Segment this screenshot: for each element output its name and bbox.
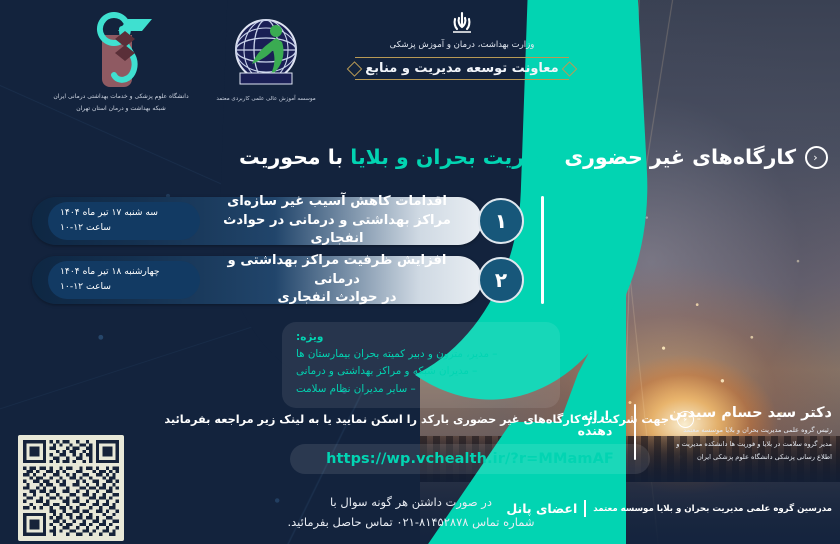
session-title-line2: مراکز بهداشتی و درمانی در حوادث انفجاری: [204, 212, 470, 249]
panel-divider: [584, 500, 586, 517]
header-logos: دانشگاه علوم پزشکی و خدمات بهداشتی درمان…: [0, 0, 840, 128]
motamed-logo-mark: [196, 14, 336, 92]
session-date-pill: سه شنبه ۱۷ تیر ماه ۱۴۰۴ ساعت ۱۲-۱۰: [48, 202, 200, 240]
motamed-logo: موسسه آموزش عالی علمی کاربردی معتمد: [196, 14, 336, 104]
session-row: ۱ اقدامات کاهش آسیب غیر سازه‌ای مراکز به…: [32, 197, 522, 245]
audience-box: ویژه: – مدیر، مترون و دبیر کمیته بحران ب…: [282, 322, 560, 408]
iums-logo-caption-2: شبکه بهداشت و درمان استان تهران: [46, 104, 196, 114]
title-suffix: با محوریت: [239, 145, 343, 169]
presenter-credential-3: اطلاع رسانی پزشکی دانشگاه علوم پزشکی ایر…: [644, 452, 832, 463]
poster-root: دانشگاه علوم پزشکی و خدمات بهداشتی درمان…: [0, 0, 840, 544]
session-title-line1: افزایش ظرفیت مراکز بهداشتی و درمانی: [204, 252, 470, 289]
title-highlight: مدیریت بحران و بلایا: [350, 145, 557, 169]
session-list: ۱ اقدامات کاهش آسیب غیر سازه‌ای مراکز به…: [32, 197, 522, 315]
session-title: افزایش ظرفیت مراکز بهداشتی و درمانی در ح…: [204, 256, 470, 304]
session-number-badge: ۱: [478, 198, 524, 244]
session-title-line2: در حوادث انفجاری: [278, 289, 397, 308]
presenter-credential-2: مدیر گروه سلامت در بلایا و فوریت ها دانش…: [644, 439, 832, 450]
presenter-name: دکتر سید حسام سیدین: [644, 404, 832, 422]
session-title: اقدامات کاهش آسیب غیر سازه‌ای مراکز بهدا…: [204, 197, 470, 245]
iran-emblem-icon: [352, 8, 572, 38]
audience-heading: ویژه:: [296, 331, 546, 343]
list-item: – مدیر، مترون و دبیر کمیته بحران بیمارست…: [296, 346, 546, 363]
contact-line-2: شماره تماس ۸۱۴۵۲۸۷۸-۰۲۱ تماس حاصل بفرمائ…: [282, 512, 540, 532]
title-prefix: کارگاه‌های غیر حضوری: [564, 145, 796, 169]
presenter-label: ارائه دهنده: [564, 404, 626, 438]
panel-members: مدرسین گروه علمی مدیریت بحران و بلایا مو…: [593, 504, 832, 514]
page-title: کارگاه‌های غیر حضوری مدیریت بحران و بلای…: [239, 145, 796, 169]
ministry-logo: وزارت بهداشت، درمان و آموزش پزشکی معاونت…: [352, 8, 572, 80]
iums-logo-mark: [46, 8, 196, 90]
session-date: سه شنبه ۱۷ تیر ماه ۱۴۰۴: [60, 206, 200, 221]
contact-line-1: در صورت داشتن هر گونه سوال با: [282, 492, 540, 512]
iums-logo: دانشگاه علوم پزشکی و خدمات بهداشتی درمان…: [46, 8, 196, 114]
list-item: – مدیران شبکه و مراکز بهداشتی و درمانی: [296, 363, 546, 380]
presenter-credential-1: رئیس گروه علمی مدیریت بحران و بلایا موسس…: [644, 425, 832, 436]
session-date: چهارشنبه ۱۸ تیر ماه ۱۴۰۴: [60, 265, 200, 280]
motamed-logo-caption: موسسه آموزش عالی علمی کاربردی معتمد: [196, 95, 336, 104]
session-time: ساعت ۱۲-۱۰: [60, 221, 200, 236]
panel-label: اعضای پانل: [506, 501, 577, 516]
session-time: ساعت ۱۲-۱۰: [60, 280, 200, 295]
panel-block: مدرسین گروه علمی مدیریت بحران و بلایا مو…: [532, 500, 832, 517]
list-item: – سایر مدیران نظام سلامت: [296, 381, 546, 398]
session-date-pill: چهارشنبه ۱۸ تیر ماه ۱۴۰۴ ساعت ۱۲-۱۰: [48, 261, 200, 299]
session-row: ۲ افزایش ظرفیت مراکز بهداشتی و درمانی در…: [32, 256, 522, 304]
presenter-divider: [634, 404, 636, 460]
iums-logo-caption-1: دانشگاه علوم پزشکی و خدمات بهداشتی درمان…: [46, 92, 196, 102]
vertical-divider: [541, 196, 545, 304]
ministry-name: وزارت بهداشت، درمان و آموزش پزشکی: [352, 40, 572, 50]
main-title-row: ‹ کارگاه‌های غیر حضوری مدیریت بحران و بل…: [0, 136, 840, 178]
audience-list: – مدیر، مترون و دبیر کمیته بحران بیمارست…: [296, 346, 546, 398]
contact-info: در صورت داشتن هر گونه سوال با شماره تماس…: [282, 492, 540, 532]
presenter-body: دکتر سید حسام سیدین رئیس گروه علمی مدیری…: [644, 404, 832, 463]
presenter-block: دکتر سید حسام سیدین رئیس گروه علمی مدیری…: [564, 404, 832, 463]
session-number-badge: ۲: [478, 257, 524, 303]
chevron-left-icon: ‹: [805, 146, 828, 169]
session-title-line1: اقدامات کاهش آسیب غیر سازه‌ای: [227, 193, 447, 212]
qr-code[interactable]: [18, 435, 124, 541]
deputy-name: معاونت توسعه مدیریت و منابع: [355, 57, 568, 80]
